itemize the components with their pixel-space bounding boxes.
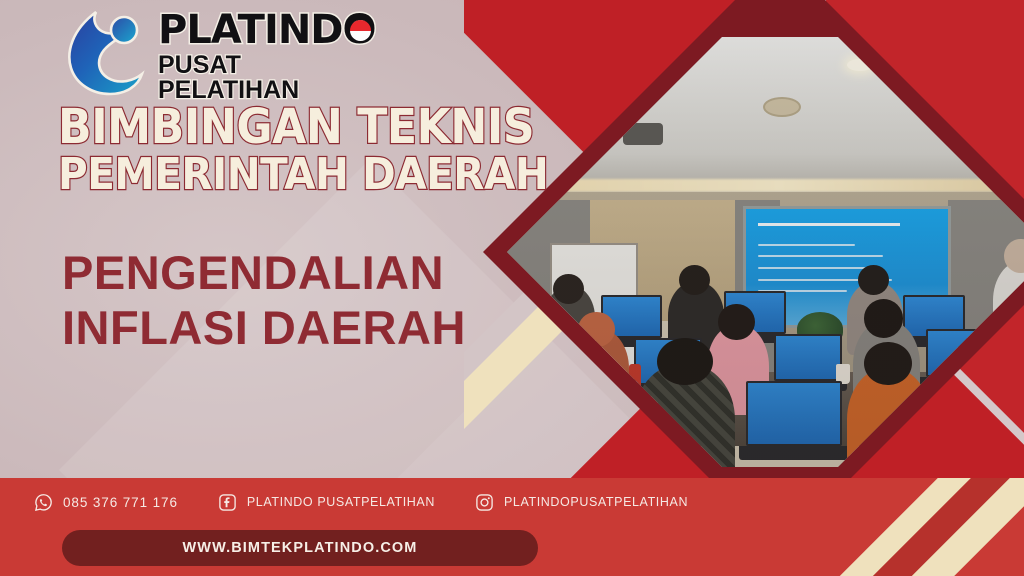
brand-tagline: PUSAT PELATIHAN xyxy=(158,53,376,103)
contact-whatsapp[interactable]: 085 376 771 176 xyxy=(34,493,178,512)
contact-instagram-label: PLATINDOPUSATPELATIHAN xyxy=(504,495,688,509)
flyer-poster: PLATINDO PUSAT PELATIHAN BIMBINGAN TEKNI… xyxy=(0,0,1024,576)
website-pill[interactable]: WWW.BIMTEKPLATINDO.COM xyxy=(62,530,538,566)
brand-name: PLATINDO xyxy=(158,10,376,50)
headline-line-1: BIMBINGAN TEKNIS xyxy=(58,104,573,151)
facebook-icon xyxy=(218,493,237,512)
brand-wordmark: PLATINDO PUSAT PELATIHAN xyxy=(158,10,376,103)
headline-block: BIMBINGAN TEKNIS PEMERINTAH DAERAH xyxy=(58,104,618,196)
contact-whatsapp-label: 085 376 771 176 xyxy=(63,495,178,510)
platindo-swoosh-logo-icon xyxy=(62,8,154,98)
footer-bar: 085 376 771 176 PLATINDO PUSATPELATIHAN xyxy=(0,478,1024,576)
website-label: WWW.BIMTEKPLATINDO.COM xyxy=(183,540,418,556)
headline-line-2: PEMERINTAH DAERAH xyxy=(58,153,573,196)
brand-logo: PLATINDO PUSAT PELATIHAN xyxy=(62,6,372,98)
subheadline-line-1: PENGENDALIAN xyxy=(62,246,622,301)
contact-facebook[interactable]: PLATINDO PUSATPELATIHAN xyxy=(218,493,435,512)
subheadline-block: PENGENDALIAN INFLASI DAERAH xyxy=(62,246,622,355)
contact-facebook-label: PLATINDO PUSATPELATIHAN xyxy=(247,495,435,509)
instagram-icon xyxy=(475,493,494,512)
contact-list: 085 376 771 176 PLATINDO PUSATPELATIHAN xyxy=(34,484,688,520)
contact-instagram[interactable]: PLATINDOPUSATPELATIHAN xyxy=(475,493,688,512)
indonesia-flag-circle-icon xyxy=(350,20,371,41)
whatsapp-icon xyxy=(34,493,53,512)
subheadline-line-2: INFLASI DAERAH xyxy=(62,301,622,356)
